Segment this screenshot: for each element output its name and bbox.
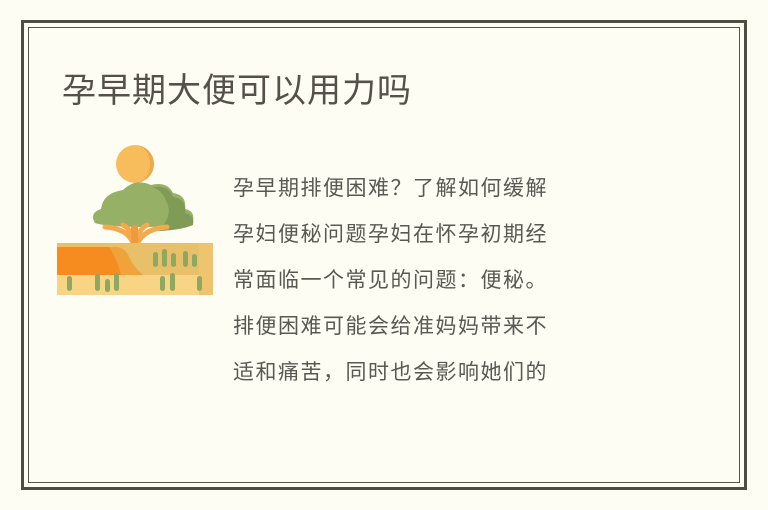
article-card: 孕早期大便可以用力吗 (0, 0, 768, 510)
tree-canopy (93, 182, 193, 231)
page-title: 孕早期大便可以用力吗 (62, 68, 412, 114)
sand-lower (57, 275, 213, 295)
sun-icon (116, 145, 154, 183)
body-line: 适和痛苦，同时也会影响她们的 (233, 349, 653, 395)
body-line: 孕妇便秘问题孕妇在怀孕初期经 (233, 211, 653, 257)
body-line: 孕早期排便困难？了解如何缓解 (233, 165, 653, 211)
article-body: 孕早期排便困难？了解如何缓解 孕妇便秘问题孕妇在怀孕初期经 常面临一个常见的问题… (233, 165, 653, 395)
savanna-illustration (57, 143, 213, 295)
body-line: 排便困难可能会给准妈妈带来不 (233, 303, 653, 349)
body-line: 常面临一个常见的问题：便秘。 (233, 257, 653, 303)
